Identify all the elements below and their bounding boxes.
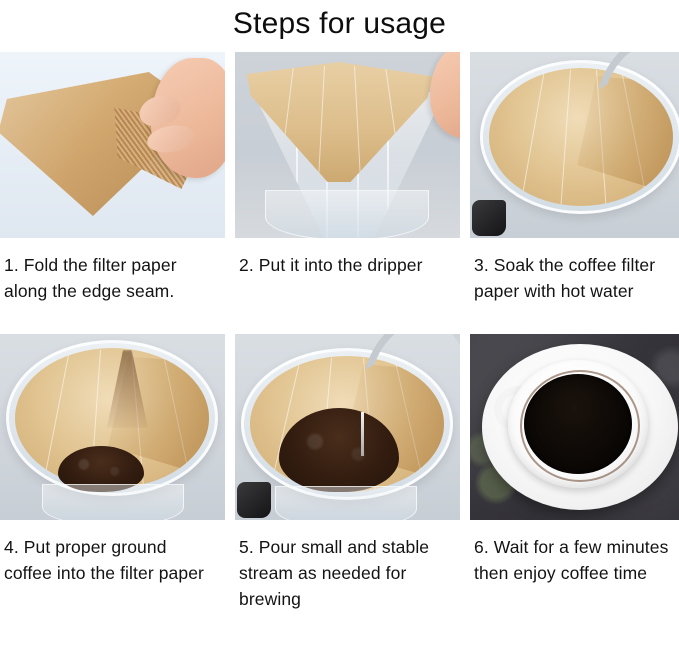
steps-grid-row-2: 4. Put proper ground coffee into the fil… (0, 334, 679, 612)
server-handle (472, 200, 506, 236)
step-caption-4: 4. Put proper ground coffee into the fil… (0, 520, 225, 612)
usage-steps-page: Steps for usage 1. Fold the filter paper… (0, 2, 679, 649)
page-title: Steps for usage (0, 2, 679, 46)
black-coffee (524, 374, 632, 474)
paper-fold-line (354, 66, 361, 184)
step-image-5 (235, 334, 460, 520)
step-caption-2: 2. Put it into the dripper (235, 238, 460, 334)
step-card-1: 1. Fold the filter paper along the edge … (0, 52, 225, 334)
server-handle (237, 482, 271, 518)
step-caption-5: 5. Pour small and stable stream as neede… (235, 520, 460, 612)
step-card-6: 6. Wait for a few minutes then enjoy cof… (470, 334, 679, 612)
step-caption-3: 3. Soak the coffee filter paper with hot… (470, 238, 679, 334)
step-card-2: 2. Put it into the dripper (235, 52, 460, 334)
glass-server (265, 190, 429, 238)
step-image-2 (235, 52, 460, 238)
step-caption-6: 6. Wait for a few minutes then enjoy cof… (470, 520, 679, 612)
step-image-4 (0, 334, 225, 520)
step-caption-1: 1. Fold the filter paper along the edge … (0, 238, 225, 334)
water-stream (361, 412, 364, 456)
step-card-3: 3. Soak the coffee filter paper with hot… (470, 52, 679, 334)
step-card-5: 5. Pour small and stable stream as neede… (235, 334, 460, 612)
glass-server (42, 484, 184, 520)
step-image-6 (470, 334, 679, 520)
glass-server (275, 486, 417, 520)
paper-fold-line (559, 70, 570, 206)
step-image-1 (0, 52, 225, 238)
paper-fold-line (518, 70, 545, 206)
steps-grid-row-1: 1. Fold the filter paper along the edge … (0, 52, 679, 334)
paper-fold-line (317, 66, 324, 184)
step-image-3 (470, 52, 679, 238)
step-card-4: 4. Put proper ground coffee into the fil… (0, 334, 225, 612)
